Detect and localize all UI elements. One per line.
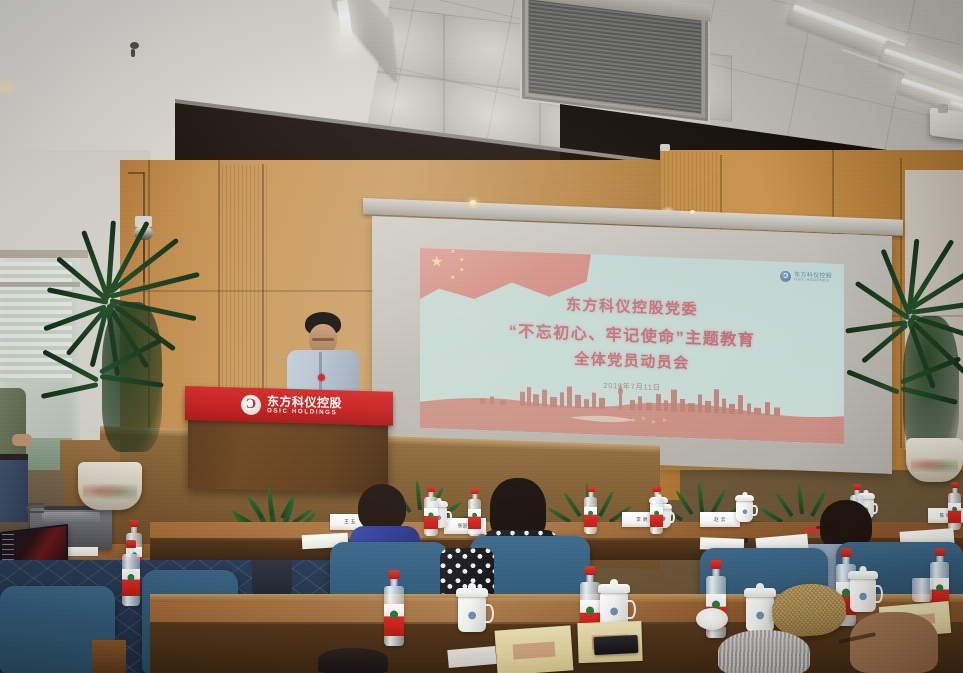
podium-logo-en: OSIC HOLDINGS [267,408,342,417]
attendee-glasses [816,526,834,529]
tea-mug[interactable] [850,578,876,612]
water-bottle[interactable] [584,486,597,534]
laptop-screen-content [2,534,14,560]
housing-light-reflection [470,200,476,205]
tea-mug[interactable] [736,500,753,522]
flag-star-small: ★ [459,257,464,263]
potted-palm-left [40,250,210,490]
water-bottle[interactable] [424,486,438,536]
name-card-text: 王 五 [344,519,355,525]
slide-logo-en: OSIC HOLDINGS [794,278,832,283]
tea-mug[interactable] [746,596,774,632]
flag-star-small: ★ [459,267,464,273]
presenter-glasses [312,338,334,341]
city-skyline-graphic [420,372,844,444]
housing-light-reflection [690,210,695,214]
bottle-cap [130,520,139,527]
name-card: 赵 云 [700,512,740,527]
chair-leg [92,640,126,673]
yellow-booklet[interactable] [495,625,574,673]
flag-star-small: ★ [450,249,455,255]
slide-org-logo: Ɔ 东方科仪控股 OSIC HOLDINGS [780,271,832,284]
smoke-detector-stem [131,49,135,57]
ceramic-plant-pot [78,462,142,510]
name-card-text: 赵 云 [714,517,725,523]
water-bottle[interactable] [468,488,481,536]
flag-star-small: ★ [450,275,455,281]
attendee-hair [318,648,388,673]
attendee-hair [358,484,406,532]
party-emblem-badge [318,374,325,381]
wall-ac-unit [660,144,670,151]
projected-slide: ★ ★ ★ ★ ★ Ɔ 东方科仪控股 OSIC HOLDINGS 东方科仪控股党… [420,248,844,444]
attendee-head [850,612,938,673]
ceramic-plant-pot [906,438,963,482]
camera-cable [128,172,144,174]
flag-star-large: ★ [430,254,443,270]
podium-branding-band: Ɔ 东方科仪控股 OSIC HOLDINGS [185,386,393,426]
saucer [696,608,728,630]
water-bottle[interactable] [384,570,404,646]
conference-hall-photo: ★ ★ ★ ★ ★ Ɔ 东方科仪控股 OSIC HOLDINGS 东方科仪控股党… [0,0,963,673]
smoke-detector-icon [130,42,139,49]
attendee-grey-hair [718,630,810,673]
drinking-glass[interactable] [912,578,932,602]
tea-mug[interactable] [458,596,486,632]
mobile-phone[interactable] [594,635,639,655]
name-card-text: 李 明 [636,517,647,523]
projection-screen[interactable]: ★ ★ ★ ★ ★ Ɔ 东方科仪控股 OSIC HOLDINGS 东方科仪控股党… [372,216,892,474]
attendee-shirt [0,388,26,458]
osic-logo-mark: Ɔ [780,271,791,282]
printer-cable [26,503,44,513]
water-bottle[interactable] [948,482,961,530]
projector-mount [938,104,948,113]
attendee-trousers [0,460,28,522]
attendee-hand [12,434,32,446]
printer-paper-tray[interactable] [42,512,100,522]
osic-logo-mark: Ɔ [241,395,261,416]
water-bottle[interactable] [650,486,663,534]
water-bottle[interactable] [122,540,140,606]
